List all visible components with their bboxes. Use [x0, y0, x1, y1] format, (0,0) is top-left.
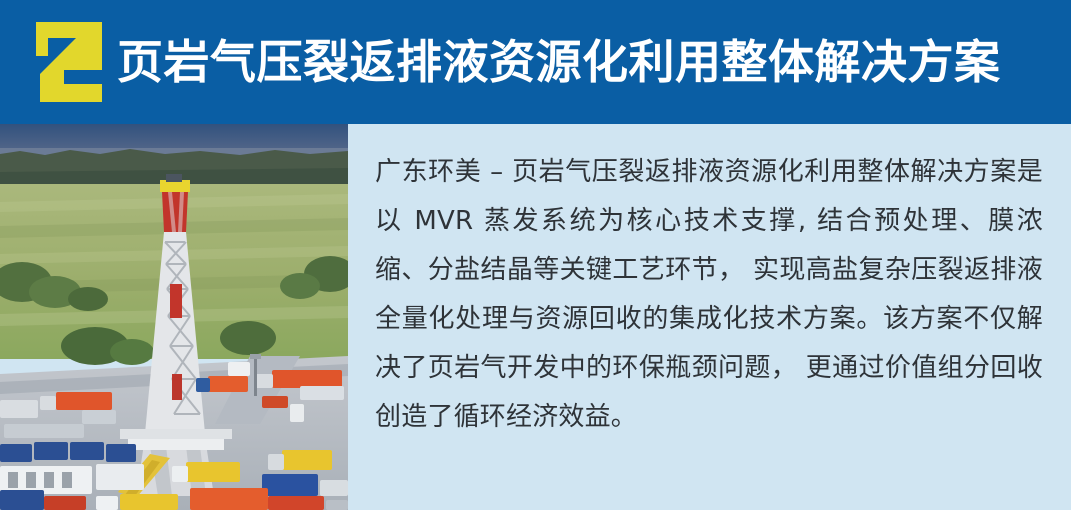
section-header-bar: 页岩气压裂返排液资源化利用整体解决方案: [0, 0, 1071, 124]
drilling-rig-photo-illustration: [0, 124, 348, 510]
solution-description-panel: 广东环美 – 页岩气压裂返排液资源化利用整体解决方案是以 MVR 蒸发系统为核心…: [348, 124, 1071, 510]
solution-description-text: 广东环美 – 页岩气压裂返排液资源化利用整体解决方案是以 MVR 蒸发系统为核心…: [375, 148, 1043, 442]
drilling-rig-photo: [0, 124, 348, 510]
numeral-two-glyph-icon: [36, 22, 102, 102]
section-number-badge: [36, 22, 102, 102]
solution-section-card: 页岩气压裂返排液资源化利用整体解决方案: [0, 0, 1071, 510]
section-title: 页岩气压裂返排液资源化利用整体解决方案: [117, 39, 1001, 85]
